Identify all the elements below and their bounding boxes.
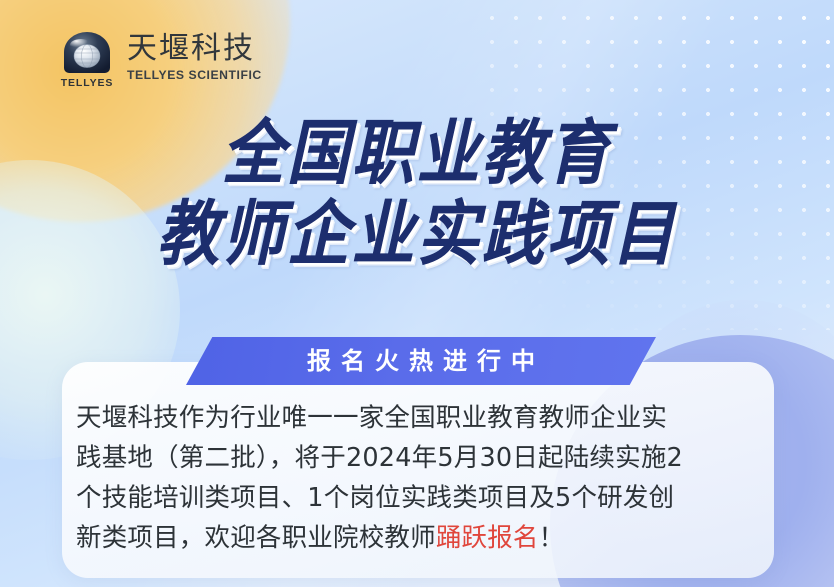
- brand-logo: TELLYES 天堰科技 TELLYES SCIENTIFIC: [56, 32, 262, 89]
- brand-mark: TELLYES: [56, 32, 118, 89]
- announcement-text: 天堰科技作为行业唯一一家全国职业教育教师企业实 践基地（第二批），将于2024年…: [62, 398, 762, 558]
- globe-emblem-icon: [62, 32, 112, 76]
- brand-name-cn: 天堰科技: [127, 33, 262, 65]
- brand-mark-wordmark: TELLYES: [61, 77, 114, 89]
- poster-headline: 全国职业教育 教师企业实践项目: [0, 118, 834, 261]
- announcement-line-2: 践基地（第二批），将于2024年5月30日起陆续实施2: [76, 438, 748, 478]
- headline-line-1: 全国职业教育: [0, 118, 834, 188]
- headline-line-2: 教师企业实践项目: [0, 199, 834, 269]
- brand-name-en: TELLYES SCIENTIFIC: [127, 68, 262, 82]
- registration-banner-label: 报名火热进行中: [297, 349, 545, 373]
- brand-wordmarks: 天堰科技 TELLYES SCIENTIFIC: [127, 32, 262, 82]
- registration-banner: 报名火热进行中: [186, 337, 656, 385]
- announcement-highlight: 踊跃报名: [436, 523, 539, 553]
- announcement-line-3: 个技能培训类项目、1个岗位实践类项目及5个研发创: [76, 478, 748, 518]
- poster-root: TELLYES 天堰科技 TELLYES SCIENTIFIC 全国职业教育 教…: [0, 0, 834, 587]
- announcement-line-4: 新类项目，欢迎各职业院校教师踊跃报名！: [76, 518, 748, 558]
- announcement-line-4-suffix: ！: [539, 523, 565, 553]
- announcement-line-1: 天堰科技作为行业唯一一家全国职业教育教师企业实: [76, 398, 748, 438]
- announcement-line-4-prefix: 新类项目，欢迎各职业院校教师: [76, 523, 436, 553]
